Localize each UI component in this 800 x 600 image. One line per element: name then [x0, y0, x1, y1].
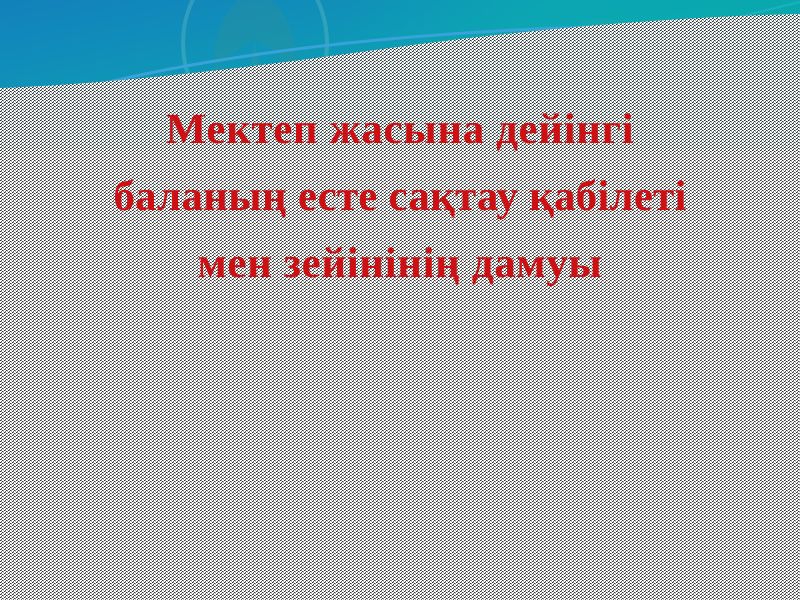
title-line-2: баланың есте сақтау қабілеті: [0, 163, 800, 230]
presentation-slide: VZ: [0, 0, 800, 600]
title-line-1: Мектеп жасына дейінгі: [0, 96, 800, 163]
slide-title: Мектеп жасына дейінгі баланың есте сақта…: [0, 96, 800, 297]
dither-texture-background: [0, 0, 800, 600]
title-line-3: мен зейінінің дамуы: [0, 230, 800, 297]
